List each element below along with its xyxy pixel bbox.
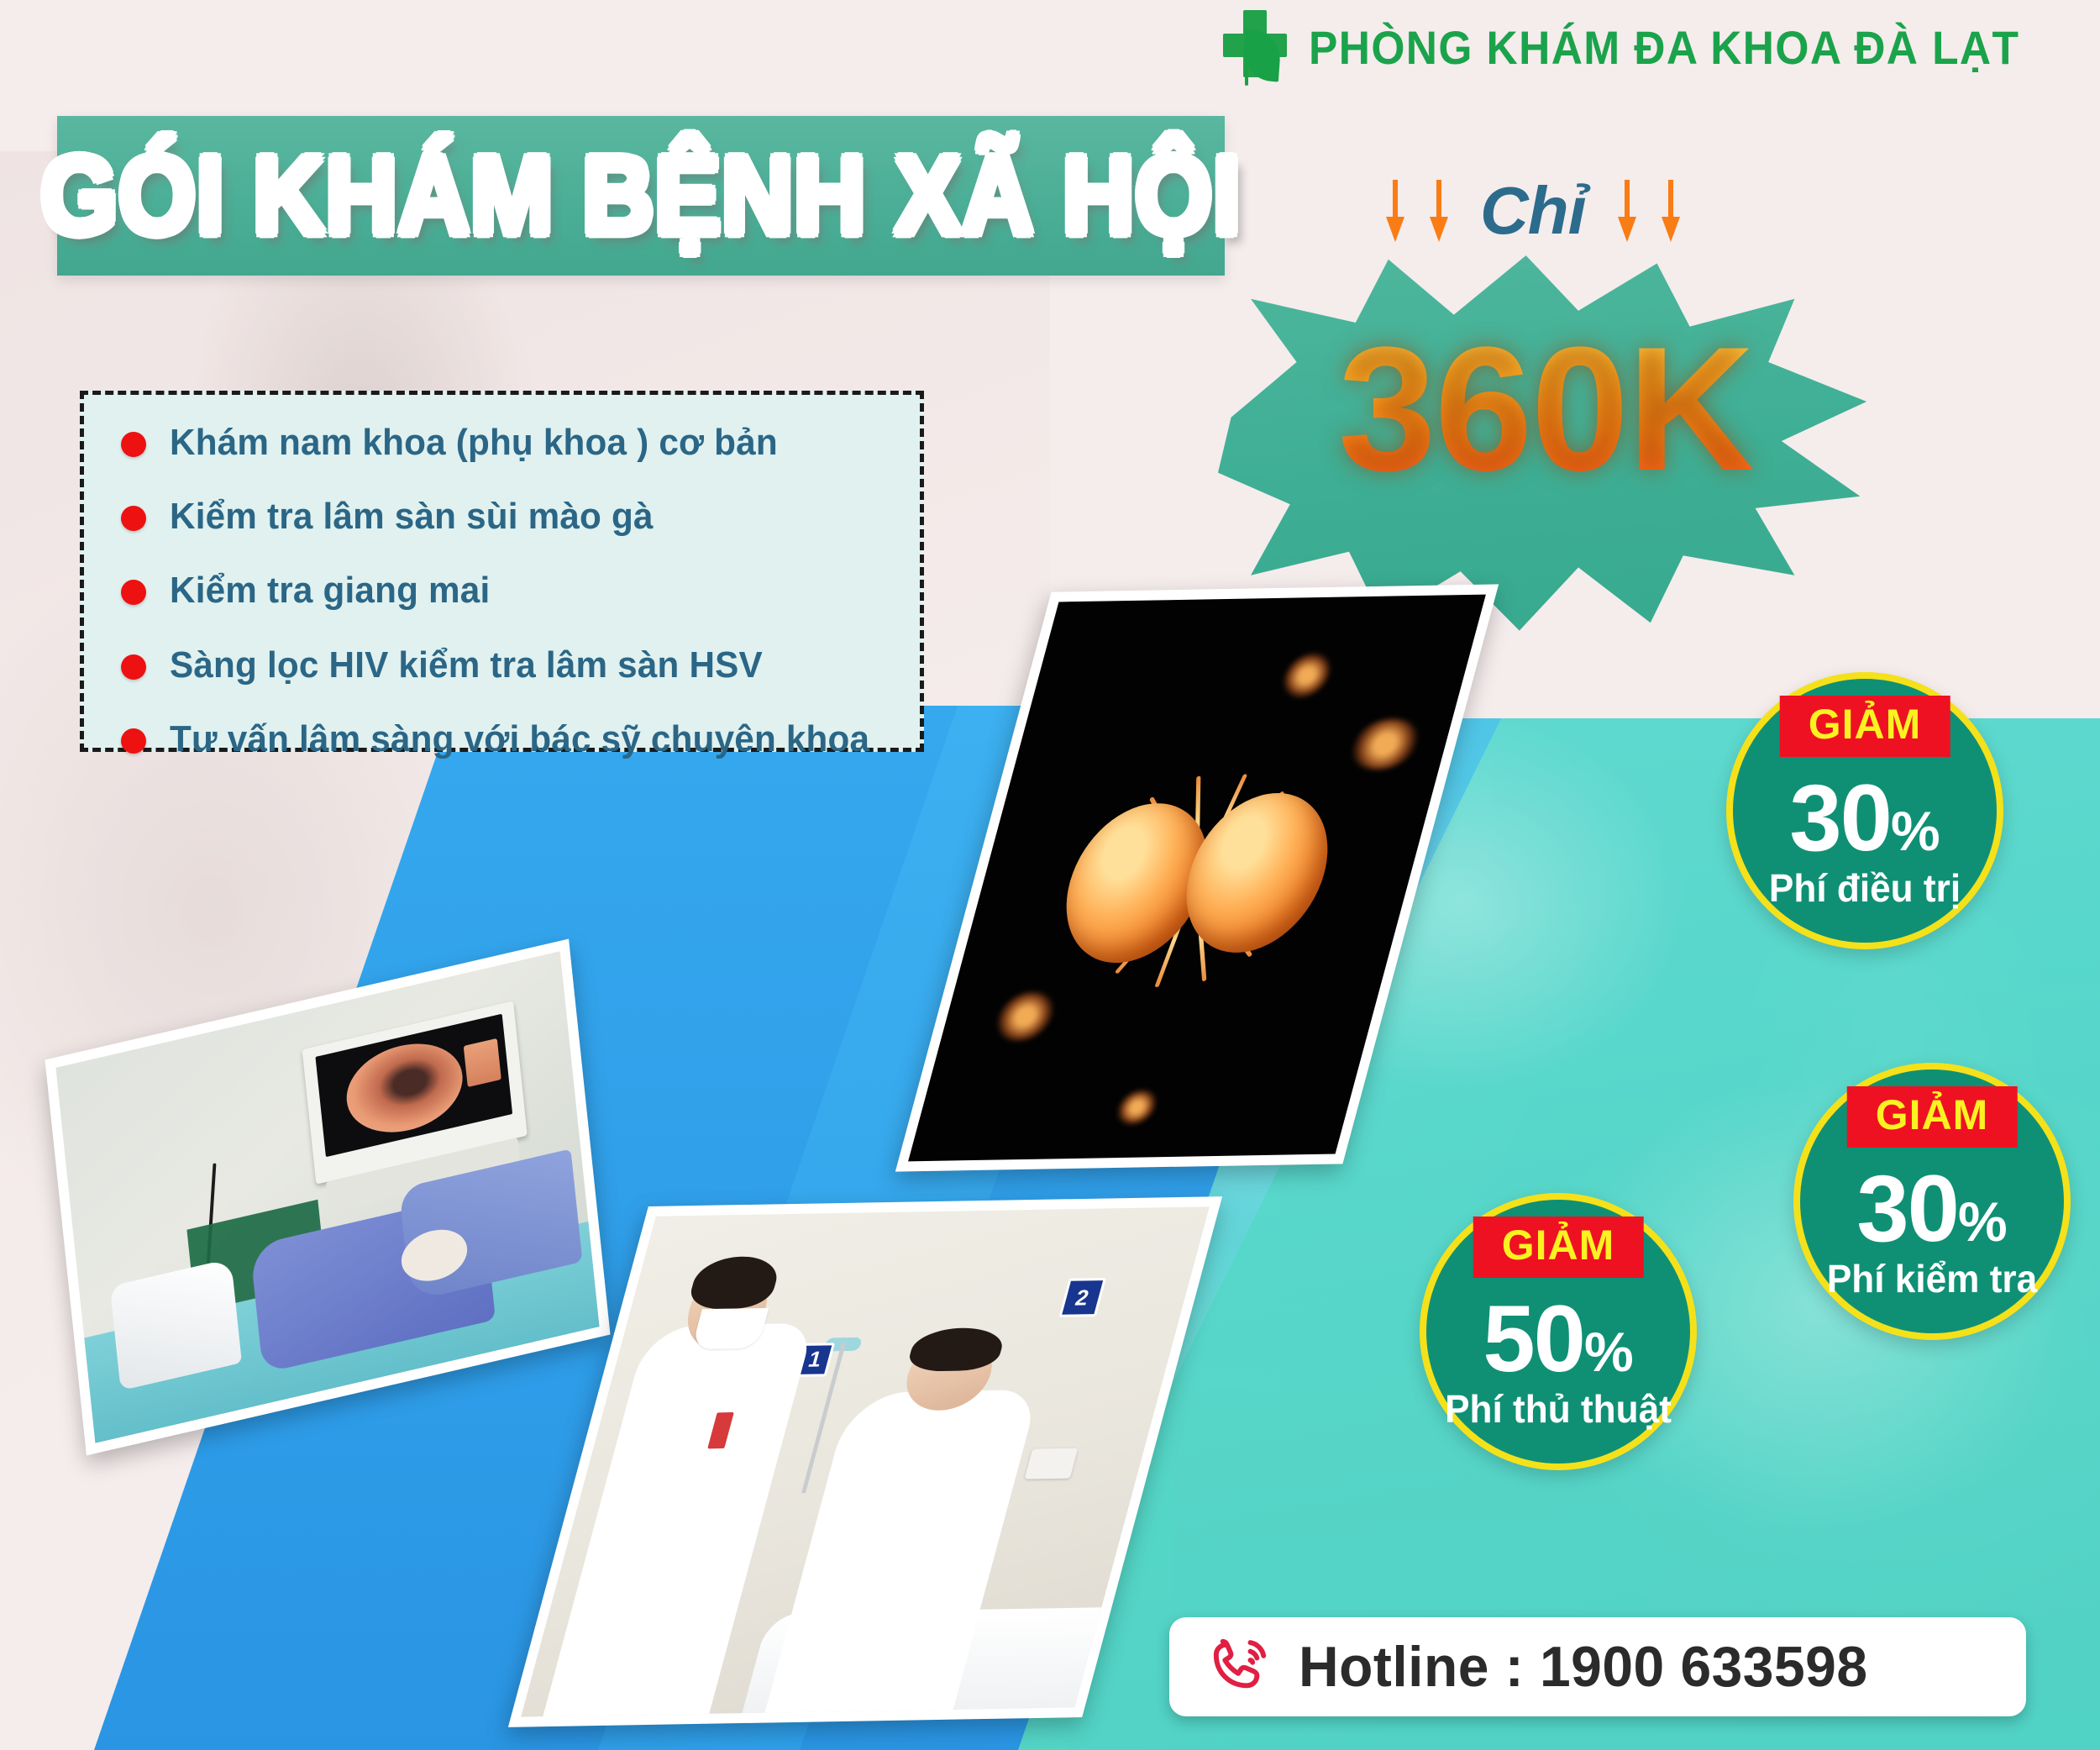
clinic-name: PHÒNG KHÁM ĐA KHOA ĐÀ LẠT: [1309, 20, 2019, 75]
promo-badge-treatment: GIẢM 30% Phí điều trị: [1726, 672, 2003, 949]
promo-badge-exam: GIẢM 30% Phí kiểm tra: [1793, 1063, 2071, 1340]
promo-badge-procedure: GIẢM 50% Phí thủ thuật: [1420, 1193, 1697, 1470]
banner-stage: PHÒNG KHÁM ĐA KHOA ĐÀ LẠT GÓI KHÁM BỆNH …: [0, 0, 2100, 1750]
service-label: Khám nam khoa (phụ khoa ) cơ bản: [170, 423, 778, 462]
badge-label: Phí kiểm tra: [1799, 1256, 2066, 1301]
list-item: Tư vấn lâm sàng với bác sỹ chuyên khoa: [121, 720, 920, 759]
list-item: Kiểm tra lâm sàn sùi mào gà: [121, 497, 920, 536]
arrow-down-icon: [1618, 180, 1636, 242]
services-box: Khám nam khoa (phụ khoa ) cơ bản Kiểm tr…: [80, 391, 924, 752]
badge-percent: 30%: [1793, 1162, 2071, 1256]
badge-tag: GIẢM: [1780, 696, 1950, 757]
badge-label: Phí thủ thuật: [1425, 1386, 1692, 1432]
services-list: Khám nam khoa (phụ khoa ) cơ bản Kiểm tr…: [84, 395, 920, 759]
percent-symbol: %: [1891, 800, 1940, 862]
badge-percent: 30%: [1726, 771, 2003, 865]
list-item: Khám nam khoa (phụ khoa ) cơ bản: [121, 423, 920, 462]
arrow-down-icon: [1430, 180, 1448, 242]
clinic-logo: PHÒNG KHÁM ĐA KHOA ĐÀ LẠT: [1218, 8, 2082, 86]
bullet-dot-icon: [121, 728, 146, 754]
page-title-banner: GÓI KHÁM BỆNH XÃ HỘI: [57, 116, 1225, 276]
bullet-dot-icon: [121, 432, 146, 457]
service-label: Kiểm tra lâm sàn sùi mào gà: [170, 497, 654, 536]
service-label: Kiểm tra giang mai: [170, 571, 490, 610]
list-item: Kiểm tra giang mai: [121, 571, 920, 610]
page-title: GÓI KHÁM BỆNH XÃ HỘI: [40, 132, 1242, 260]
badge-percent-value: 30: [1856, 1156, 1958, 1261]
bullet-dot-icon: [121, 580, 146, 605]
badge-tag: GIẢM: [1473, 1217, 1644, 1278]
bacteria-cell: [1053, 787, 1341, 968]
room-sign-2: 2: [1058, 1278, 1106, 1317]
badge-percent: 50%: [1420, 1292, 1697, 1386]
bullet-dot-icon: [121, 506, 146, 531]
badge-percent-value: 30: [1789, 765, 1891, 870]
price-starburst: 360K: [1218, 244, 1873, 639]
badge-percent-value: 50: [1483, 1286, 1584, 1391]
percent-symbol: %: [1958, 1190, 2008, 1253]
arrow-down-icon: [1386, 180, 1404, 242]
price-amount: 360K: [1218, 321, 1873, 497]
hotline-bar[interactable]: Hotline : 1900 633598: [1169, 1617, 2026, 1716]
list-item: Sàng lọc HIV kiểm tra lâm sàn HSV: [121, 646, 920, 685]
medical-cross-leaf-icon: [1218, 8, 1290, 86]
service-label: Tư vấn lâm sàng với bác sỹ chuyên khoa: [170, 720, 869, 759]
percent-symbol: %: [1584, 1321, 1634, 1383]
phone-ringing-icon: [1206, 1632, 1277, 1702]
price-prefix-row: Chỉ: [1386, 172, 1680, 250]
badge-tag: GIẢM: [1847, 1086, 2018, 1148]
bullet-dot-icon: [121, 654, 146, 680]
badge-label: Phí điều trị: [1732, 865, 1998, 911]
arrow-down-icon: [1662, 180, 1680, 242]
price-prefix: Chỉ: [1480, 172, 1586, 250]
service-label: Sàng lọc HIV kiểm tra lâm sàn HSV: [170, 646, 763, 685]
hotline-text: Hotline : 1900 633598: [1299, 1634, 1867, 1700]
